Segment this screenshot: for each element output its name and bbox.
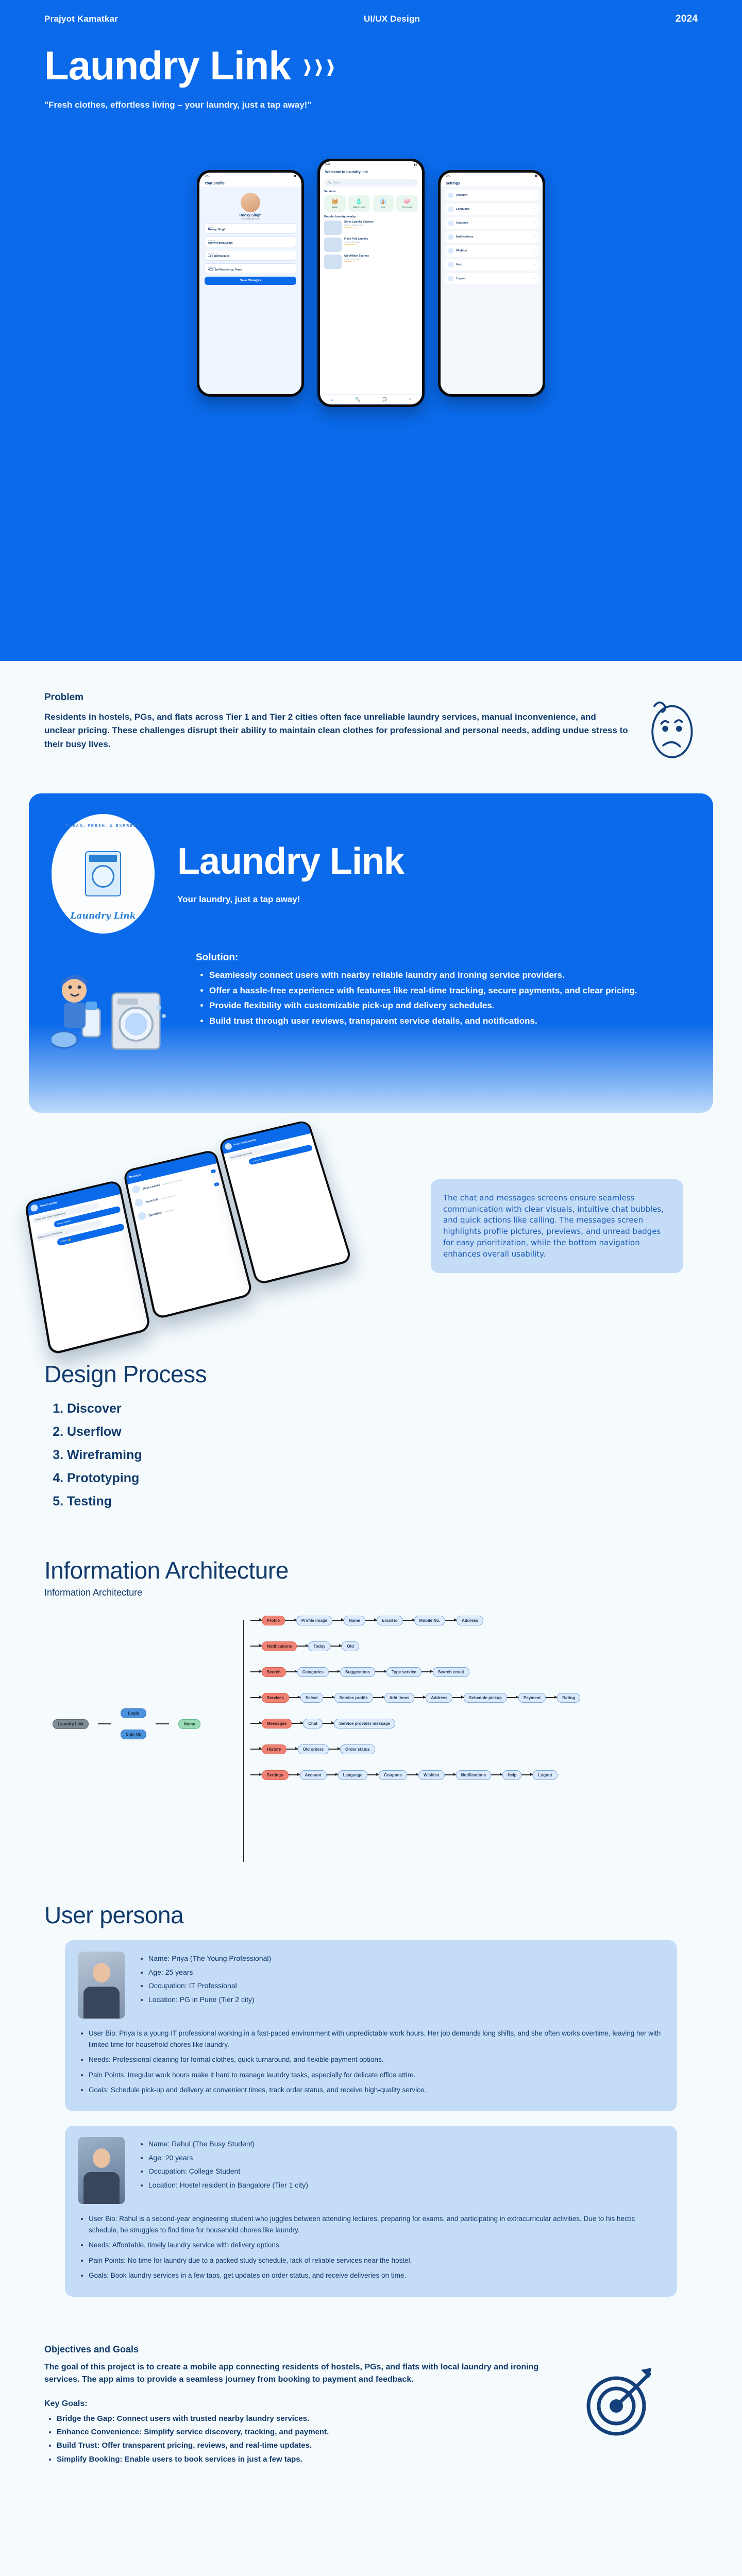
phone-mockup-home: 9:41▮▮ Welcome to Laundry link 🔍 Search … [317, 159, 425, 407]
hero-meta: Prajyot Kamatkar UI/UX Design 2024 [44, 13, 698, 25]
search-icon: 🔍 [328, 181, 331, 184]
persona-goals: Goals: Schedule pick-up and delivery at … [89, 2084, 664, 2096]
ia-leaf-node: Logout [533, 1770, 557, 1780]
ia-leaf-node: Suggestions [340, 1667, 375, 1677]
save-changes-button[interactable]: Save Changes [205, 277, 296, 285]
ia-leaf-node: Payment [518, 1693, 546, 1703]
tab-search-icon[interactable]: 🔍 [355, 397, 360, 402]
avatar [131, 1184, 141, 1194]
tab-home-icon[interactable]: ⌂ [331, 397, 333, 402]
avatar [137, 1211, 147, 1221]
ia-root-group: Laundry Link Login Sign Up Home [53, 1708, 200, 1739]
ia-leaf-node: Categories [297, 1667, 329, 1677]
ia-leaf-node: Type service [386, 1667, 421, 1677]
tab-menu-icon[interactable]: ≡ [409, 397, 411, 402]
ia-branch-notifications: Notifications Today Old [250, 1633, 698, 1659]
objectives-heading: Objectives and Goals [44, 2344, 560, 2355]
service-dryclean[interactable]: 🧼 Dry clean [396, 195, 418, 212]
rating-stars: ★★★★☆ 4.5 [344, 226, 418, 229]
ia-leaf-node: Profile image [296, 1616, 332, 1625]
problem-body: Residents in hostels, PGs, and flats acr… [44, 710, 628, 751]
language-icon [448, 207, 453, 212]
target-dartboard-icon [580, 2365, 657, 2442]
key-goal: Enhance Convenience: Simplify service di… [57, 2426, 560, 2438]
author-name: Prajyot Kamatkar [44, 14, 364, 24]
ia-leaf-node: Help [502, 1770, 521, 1780]
solution-list: Solution: Seamlessly connect users with … [196, 952, 690, 1029]
ia-leaf-node: Add items [384, 1693, 415, 1703]
ia-leaf-node: Old orders [298, 1744, 329, 1754]
ia-node-home: Home [178, 1719, 200, 1729]
chat-contact-name: Shree Laundry [40, 1201, 58, 1208]
problem-section: Problem Residents in hostels, PGs, and f… [0, 661, 742, 771]
service-iron[interactable]: 👔 Iron [373, 195, 394, 212]
chat-phone-mockups: Shree Laundry Hello! Your order is picke… [19, 1114, 426, 1351]
chevron-right-icon: › [534, 208, 535, 211]
chevrons-icon: ››› [302, 51, 336, 80]
solution-bullet: Build trust through user reviews, transp… [209, 1014, 690, 1028]
chevron-right-icon: › [534, 263, 535, 266]
ia-leaf-node: Order status [340, 1744, 375, 1754]
key-goal: Bridge the Gap: Connect users with trust… [57, 2413, 560, 2425]
ia-trunk-line [243, 1620, 244, 1862]
ia-category-node: Profile [262, 1616, 285, 1625]
rating-stars: ★★★★★ 4.8 [344, 243, 418, 246]
solution-bullet: Seamlessly connect users with nearby rel… [209, 969, 690, 982]
persona-card-rahul: Name: Rahul (The Busy Student) Age: 20 y… [65, 2126, 677, 2297]
ia-heading: Information Architecture [44, 1556, 698, 1584]
hero-title-row: Laundry Link ››› [44, 45, 698, 86]
listing-thumbnail [324, 238, 342, 252]
chevron-right-icon: › [534, 222, 535, 225]
logo-ring-text: CLEAN, FRESH, & EXPRESS [52, 824, 155, 828]
ia-branch-profile: Profile Profile image Name Email id Mobi… [250, 1607, 698, 1633]
avatar [30, 1204, 38, 1212]
solution-section: CLEAN, FRESH, & EXPRESS Laundry Link Lau… [0, 771, 742, 1113]
ia-leaf-node: Notifications [456, 1770, 491, 1780]
chevron-right-icon: › [534, 249, 535, 252]
help-icon [448, 262, 453, 267]
popular-heading: Popular laundry nearby [324, 215, 418, 218]
settings-row-coupons[interactable]: Coupons › [445, 217, 538, 229]
confused-face-icon [644, 696, 698, 760]
ia-diagram: Laundry Link Login Sign Up Home Profile … [44, 1607, 698, 1875]
service-wash-iron[interactable]: 🧴 Wash + Iron [348, 195, 370, 212]
ia-leaf-node: Language [338, 1770, 368, 1780]
brand-logo-badge: CLEAN, FRESH, & EXPRESS Laundry Link [52, 814, 155, 934]
ia-leaf-node: Mobile No. [414, 1616, 445, 1625]
account-icon [448, 193, 453, 198]
key-goal: Build Trust: Offer transparent pricing, … [57, 2439, 560, 2451]
persona-needs: Needs: Professional cleaning for formal … [89, 2054, 664, 2065]
settings-screen-title: Settings [441, 180, 543, 187]
problem-heading: Problem [44, 692, 628, 703]
ia-leaf-node: Name [344, 1616, 365, 1625]
discipline-label: UI/UX Design [364, 14, 676, 24]
ia-leaf-node: Today [308, 1641, 330, 1651]
field-name[interactable]: Name Rooxy Singh [205, 223, 296, 234]
design-process-section: Design Process Discover Userflow Wirefra… [0, 1324, 742, 1533]
design-process-step: Wireframing [67, 1448, 698, 1463]
ia-branch-services: Services Select Service profile Add item… [250, 1685, 698, 1710]
ia-category-node: Services [262, 1693, 289, 1703]
persona-fact: Location: Hostel resident in Bangalore (… [148, 2178, 308, 2192]
persona-fact: Occupation: IT Professional [148, 1979, 271, 1993]
ia-leaf-node: Address [426, 1693, 452, 1703]
profile-email: rooxy@gmail.com [205, 217, 296, 220]
ia-category-node: Search [262, 1667, 286, 1677]
persona-goals: Goals: Book laundry services in a few ta… [89, 2270, 664, 2281]
ia-branch-settings: Settings Account Language Coupons Wishli… [250, 1762, 698, 1788]
phone-mockup-settings: 9:41▮▮ Settings Account › Language › [438, 170, 545, 397]
hero-tagline: "Fresh clothes, effortless living – your… [44, 100, 698, 110]
ia-leaf-node: Wishlist [418, 1770, 445, 1780]
solution-bullet: Provide flexibility with customizable pi… [209, 999, 690, 1012]
status-bar: 9:41▮▮ [320, 161, 422, 168]
user-persona-section: User persona Name: Priya (The Young Prof… [0, 1880, 742, 2321]
dryclean-icon: 🧼 [403, 199, 411, 205]
persona-photo [78, 1952, 125, 2019]
key-goals-heading: Key Goals: [44, 2399, 560, 2409]
ia-leaf-node: Account [300, 1770, 327, 1780]
persona-fact: Age: 25 years [148, 1965, 271, 1979]
ia-leaf-node: Select [300, 1693, 323, 1703]
solution-card: CLEAN, FRESH, & EXPRESS Laundry Link Lau… [29, 793, 713, 1113]
ia-node-login: Login [121, 1708, 146, 1718]
listing-thumbnail [324, 221, 342, 235]
status-bar: 9:41▮▮ [441, 173, 543, 180]
ia-leaf-node: Email id [377, 1616, 403, 1625]
rating-stars: ★★★★☆ 4.3 [344, 260, 418, 263]
washing-machine-icon [85, 851, 121, 896]
ia-category-node: History [262, 1744, 286, 1754]
heart-icon [448, 248, 453, 253]
persona-fact: Name: Rahul (The Busy Student) [148, 2137, 308, 2151]
profile-name: Rooxy Singh [205, 214, 296, 217]
search-input[interactable]: 🔍 Search [324, 179, 418, 187]
user-persona-heading: User persona [44, 1901, 698, 1929]
service-grid: 🧺 Wash 🧴 Wash + Iron 👔 Iron [324, 195, 418, 212]
ia-subheading: Information Architecture [44, 1587, 698, 1598]
settings-row-help[interactable]: Help › [445, 259, 538, 270]
wash-iron-icon: 🧴 [356, 199, 363, 205]
ia-category-node: Settings [262, 1770, 289, 1780]
services-heading: Services [324, 190, 418, 193]
page-title: Laundry Link [44, 45, 291, 86]
objectives-body: The goal of this project is to create a … [44, 2361, 560, 2386]
wash-icon: 🧺 [331, 199, 339, 205]
chevron-right-icon: › [534, 235, 535, 239]
chat-annotation-note: The chat and messages screens ensure sea… [431, 1179, 683, 1274]
brand-name: Laundry Link [177, 843, 404, 880]
design-process-step: Testing [67, 1494, 698, 1509]
case-study-page: Prajyot Kamatkar UI/UX Design 2024 Laund… [0, 0, 742, 2508]
settings-row-account[interactable]: Account › [445, 190, 538, 201]
information-architecture-section: Information Architecture Information Arc… [0, 1533, 742, 1880]
list-item[interactable]: Shree Laundry Services 0.8 km • Wash & I… [324, 221, 418, 235]
settings-row-notifications[interactable]: Notifications › [445, 231, 538, 243]
tab-messages-icon[interactable]: 💬 [382, 397, 387, 402]
home-greeting: Welcome to Laundry link [320, 168, 422, 175]
unread-badge: 1 [214, 1182, 220, 1187]
persona-fact: Age: 20 years [148, 2151, 308, 2165]
ia-node-root: Laundry Link [53, 1719, 89, 1729]
avatar [224, 1143, 232, 1150]
coupon-icon [448, 221, 453, 226]
chat-contact-name: Fresh Fold Laundry [233, 1139, 257, 1146]
persona-photo [78, 2137, 125, 2204]
persona-bio: User Bio: Rahul is a second-year enginee… [89, 2213, 664, 2235]
ia-leaf-node: Rating [557, 1693, 580, 1703]
persona-needs: Needs: Affordable, timely laundry servic… [89, 2240, 664, 2251]
bottom-navigation: ⌂ 🔍 💬 ≡ [320, 394, 422, 404]
settings-row-language[interactable]: Language › [445, 204, 538, 215]
persona-fact: Location: PG in Pune (Tier 2 city) [148, 1993, 271, 2007]
design-process-heading: Design Process [44, 1360, 698, 1388]
ia-branch-rows: Profile Profile image Name Email id Mobi… [250, 1607, 698, 1788]
hero-phone-mockups: 9:41▮▮ Your profile Rooxy Singh rooxy@gm… [0, 170, 742, 407]
chevron-right-icon: › [534, 277, 535, 280]
field-email[interactable]: Email id rooxy@gmail.com [205, 236, 296, 247]
solution-heading: Solution: [196, 952, 690, 963]
design-process-step: Userflow [67, 1425, 698, 1439]
hero-section: Prajyot Kamatkar UI/UX Design 2024 Laund… [0, 0, 742, 661]
ia-category-node: Notifications [262, 1641, 297, 1651]
key-goal: Simplify Booking: Enable users to book s… [57, 2453, 560, 2465]
ia-leaf-node: Old [342, 1641, 359, 1651]
settings-row-wishlist[interactable]: Wishlist › [445, 245, 538, 257]
ia-leaf-node: Service profile [334, 1693, 373, 1703]
ia-branch-messages: Messages Chat Service provider message [250, 1710, 698, 1736]
year-label: 2024 [676, 13, 698, 25]
messages-title: Messages [129, 1174, 141, 1179]
chat-screens-section: Shree Laundry Hello! Your order is picke… [0, 1113, 742, 1324]
service-wash[interactable]: 🧺 Wash [324, 195, 346, 212]
avatar [134, 1198, 144, 1208]
ia-leaf-node: Service provider message [334, 1719, 395, 1728]
persona-bio: User Bio: Priya is a young IT profession… [89, 2028, 664, 2050]
field-mobile[interactable]: Mobile No. +91 9876543210 [205, 250, 296, 261]
laundry-mascot-illustration [52, 952, 180, 1055]
ia-branch-history: History Old orders Order status [250, 1736, 698, 1762]
objectives-section: Objectives and Goals The goal of this pr… [0, 2321, 742, 2508]
settings-row-logout[interactable]: Logout › [445, 273, 538, 284]
persona-pain-points: Pain Points: Irregular work hours make i… [89, 2070, 664, 2081]
unread-badge: 2 [210, 1169, 216, 1174]
persona-card-priya: Name: Priya (The Young Professional) Age… [65, 1940, 677, 2111]
brand-sub-tagline: Your laundry, just a tap away! [177, 894, 404, 905]
avatar [241, 193, 260, 212]
iron-icon: 👔 [380, 199, 387, 205]
field-address[interactable]: Address 402, Sai Residency, Pune [205, 263, 296, 274]
solution-bullet: Offer a hassle-free experience with feat… [209, 984, 690, 997]
ia-branch-search: Search Categories Suggestions Type servi… [250, 1659, 698, 1685]
logout-icon [448, 276, 453, 281]
profile-screen-title: Your profile [199, 180, 301, 187]
persona-fact: Name: Priya (The Young Professional) [148, 1952, 271, 1965]
design-process-step: Discover [67, 1401, 698, 1416]
listing-thumbnail [324, 255, 342, 269]
ia-node-signup: Sign Up [121, 1730, 146, 1739]
list-item[interactable]: QuickWash Express 1.9 km • Iron only ★★★… [324, 255, 418, 269]
logo-script-text: Laundry Link [52, 911, 155, 921]
chevron-right-icon: › [534, 194, 535, 197]
persona-pain-points: Pain Points: No time for laundry due to … [89, 2255, 664, 2266]
persona-fact: Occupation: College Student [148, 2164, 308, 2178]
ia-leaf-node: Schedule pickup [464, 1693, 507, 1703]
design-process-step: Prototyping [67, 1471, 698, 1486]
phone-mockup-profile: 9:41▮▮ Your profile Rooxy Singh rooxy@gm… [197, 170, 304, 397]
ia-leaf-node: Search result [433, 1667, 469, 1677]
list-item[interactable]: Fresh Fold Laundry 1.2 km • Dry clean ★★… [324, 238, 418, 252]
bell-icon [448, 234, 453, 240]
ia-leaf-node: Chat [303, 1719, 323, 1728]
ia-category-node: Messages [262, 1719, 292, 1728]
ia-leaf-node: Address [457, 1616, 483, 1625]
ia-leaf-node: Coupons [379, 1770, 407, 1780]
status-bar: 9:41▮▮ [199, 173, 301, 180]
